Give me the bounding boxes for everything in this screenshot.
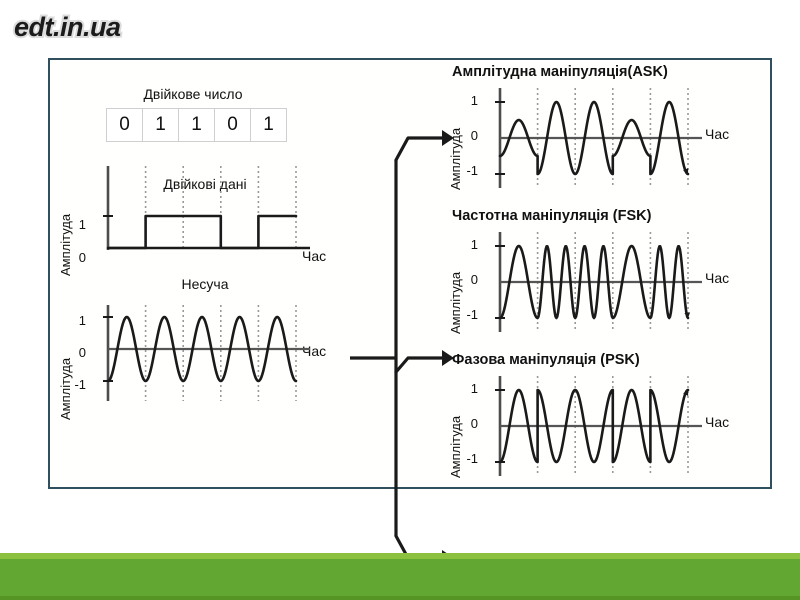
binary-data-ylabel: Амплітуда [58,184,73,276]
ask-panel-title: Амплітудна маніпуляція(ASK) [452,64,668,80]
slide-frame: Двійкове число 0 1 1 0 1 Двійкові дані А… [48,58,772,489]
psk-xlabel: Час [705,414,729,430]
binary-cell: 1 [179,109,215,141]
carrier-ytick: -1 [68,377,86,392]
fsk-waveform [482,224,702,340]
binary-number-table: 0 1 1 0 1 [106,108,287,142]
carrier-title: Несуча [90,276,320,292]
binary-data-ytick: 0 [74,250,86,265]
fsk-ytick: 1 [464,237,478,252]
carrier-ytick: 1 [74,313,86,328]
binary-number-title: Двійкове число [78,86,308,102]
fsk-panel-title: Частотна маніпуляція (FSK) [452,208,651,224]
psk-ytick: 1 [464,381,478,396]
binary-cell: 0 [215,109,251,141]
binary-data-waveform [90,156,310,266]
footer-bar [0,559,800,596]
fsk-ytick: -1 [458,307,478,322]
ask-ytick: 0 [464,128,478,143]
site-watermark: edt.in.ua [14,12,121,43]
binary-data-ytick: 1 [74,217,86,232]
carrier-waveform [90,297,310,407]
psk-ytick: -1 [458,451,478,466]
psk-waveform [482,368,702,484]
ask-ytick: -1 [458,163,478,178]
footer-shadow-bar [0,596,800,600]
binary-cell: 1 [143,109,179,141]
ask-waveform [482,80,702,196]
binary-cell: 1 [251,109,286,141]
carrier-ylabel: Амплітуда [58,322,73,420]
carrier-ytick: 0 [74,345,86,360]
branch-connector [350,118,460,458]
binary-cell: 0 [107,109,143,141]
psk-panel-title: Фазова маніпуляція (PSK) [452,352,640,368]
psk-ytick: 0 [464,416,478,431]
fsk-xlabel: Час [705,270,729,286]
ask-ytick: 1 [464,93,478,108]
fsk-ytick: 0 [464,272,478,287]
ask-xlabel: Час [705,126,729,142]
